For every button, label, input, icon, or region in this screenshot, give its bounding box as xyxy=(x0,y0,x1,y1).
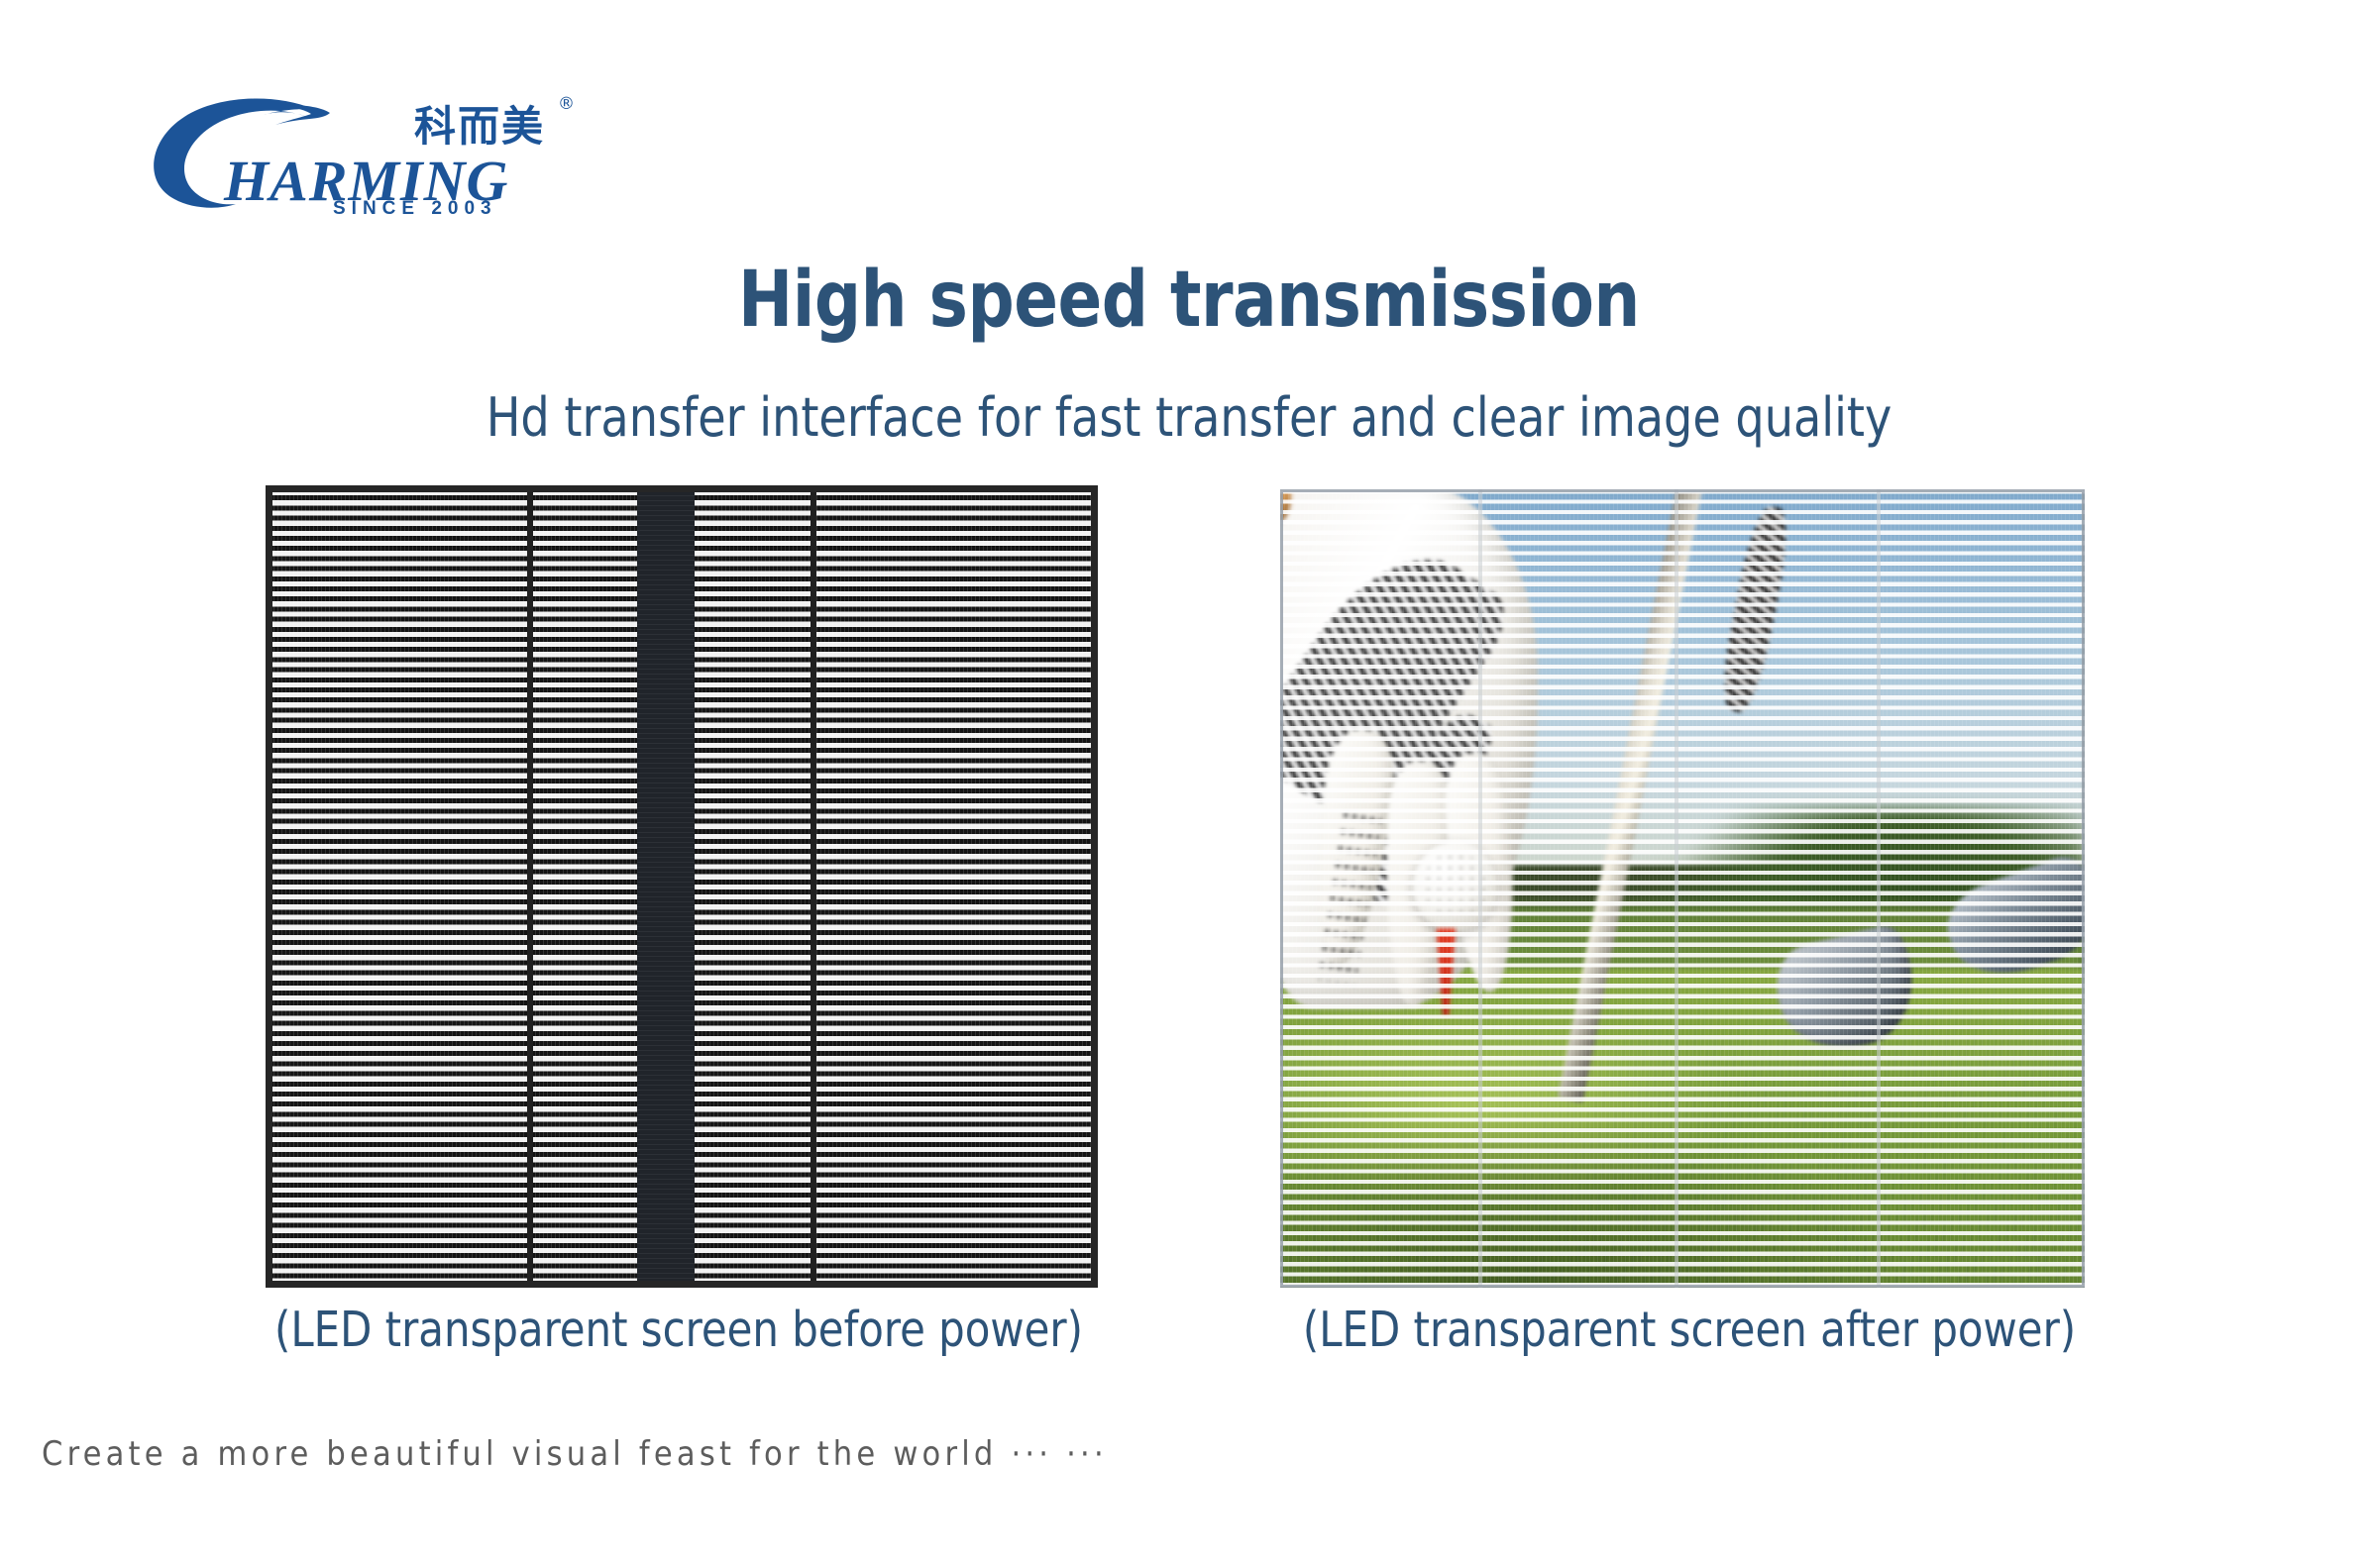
logo-since-label: SINCE 2003 xyxy=(333,198,497,216)
led-screen-before-power xyxy=(266,485,1098,1288)
panel-divider-2 xyxy=(811,485,816,1288)
logo-chinese-name: 科而美 xyxy=(414,102,545,151)
page-subtitle: Hd transfer interface for fast transfer … xyxy=(59,391,2319,445)
golf-ball xyxy=(1413,841,1497,933)
panel-divider-c xyxy=(1877,489,1881,1288)
panel-divider-1 xyxy=(527,485,533,1288)
caption-before-power: (LED transparent screen before power) xyxy=(208,1306,1149,1354)
panel-divider-a xyxy=(1478,489,1482,1288)
grass-shadow xyxy=(1280,1016,2085,1288)
glove-cuff xyxy=(1280,489,1291,524)
caption-after-power: (LED transparent screen after power) xyxy=(1238,1306,2141,1354)
panel-center-band xyxy=(637,485,695,1288)
page-title: High speed transmission xyxy=(71,261,2307,339)
golf-scene-layers xyxy=(1280,489,2085,1288)
registered-trademark-icon: ® xyxy=(558,94,575,114)
charming-logo-svg: HARMING 科而美 ® SINCE 2003 xyxy=(127,87,593,216)
panel-divider-b xyxy=(1675,489,1678,1288)
golf-scene-image xyxy=(1280,489,2085,1288)
led-screen-off-surface xyxy=(266,485,1098,1288)
footer-tagline: Create a more beautiful visual feast for… xyxy=(42,1434,1108,1474)
brand-logo: HARMING 科而美 ® SINCE 2003 xyxy=(127,87,593,216)
led-screen-after-power xyxy=(1280,489,2085,1288)
